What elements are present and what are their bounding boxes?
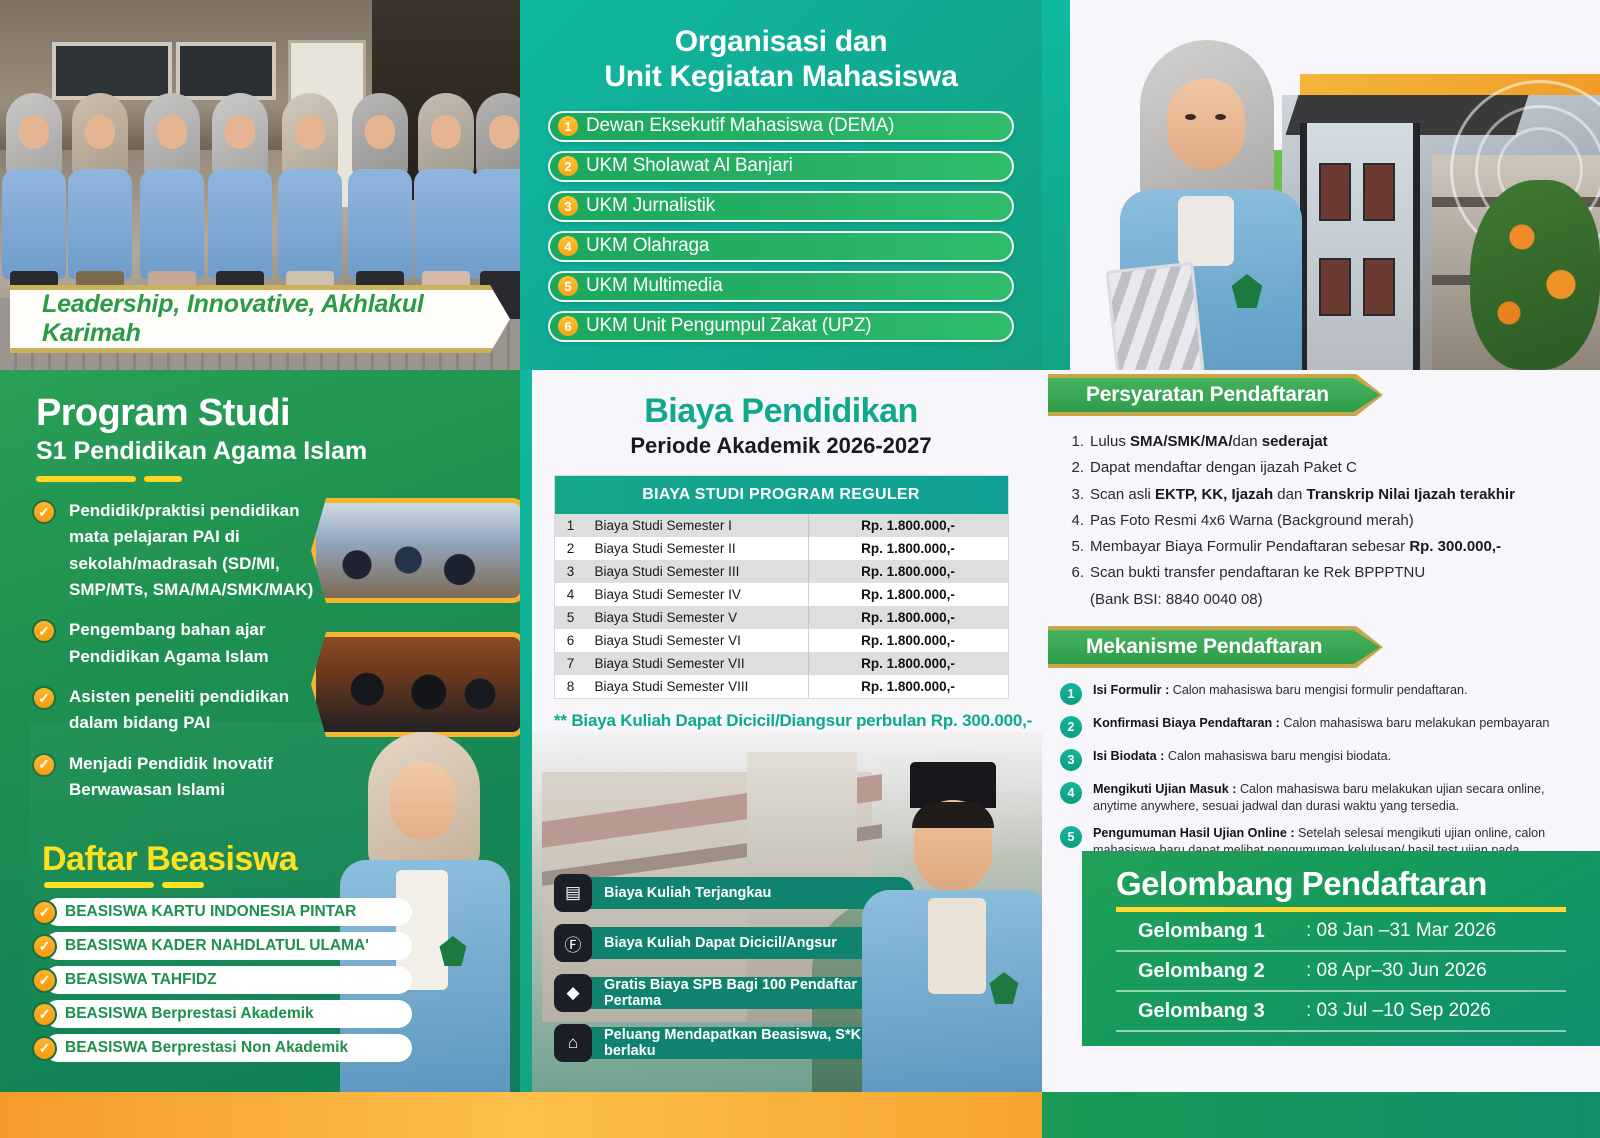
tree-foliage [1470, 180, 1600, 370]
perk-item-1: ▤Biaya Kuliah Terjangkau [554, 874, 914, 912]
persyaratan-number: 3. [1066, 483, 1090, 507]
table-row: 3Biaya Studi Semester IIIRp. 1.800.000,- [555, 560, 1008, 583]
persyaratan-title: Persyaratan Pendaftaran [1048, 383, 1329, 407]
check-icon: ✓ [32, 900, 57, 925]
fee-row-amount: Rp. 1.800.000,- [808, 514, 1008, 537]
building-window [1319, 258, 1351, 316]
ukm-number-badge: 4 [558, 236, 578, 256]
free-tag-icon: ◆ [554, 974, 592, 1012]
mekanisme-step-1: 1Isi Formulir : Calon mahasiswa baru men… [1060, 682, 1600, 705]
gelombang-date: : 03 Jul –10 Sep 2026 [1306, 1000, 1491, 1022]
persyaratan-list: 1.Lulus SMA/SMK/MA/dan sederajat2.Dapat … [1042, 416, 1600, 586]
biaya-panel: Biaya Pendidikan Periode Akademik 2026-2… [520, 370, 1042, 1092]
teal-accent-bar [520, 370, 532, 1092]
classroom-photo [311, 498, 520, 603]
perks-list: ▤Biaya Kuliah TerjangkauⒻBiaya Kuliah Da… [554, 874, 914, 1062]
beasiswa-item-3[interactable]: ✓BEASISWA TAHFIDZ [32, 966, 412, 994]
mekanisme-title: Mekanisme Pendaftaran [1048, 635, 1322, 659]
fee-row-name: Biaya Studi Semester VIII [587, 675, 808, 698]
program-studi-subtitle: S1 Pendidikan Agama Islam [0, 435, 520, 466]
ukm-number-badge: 1 [558, 116, 578, 136]
gelombang-rows: Gelombang 1: 08 Jan –31 Mar 2026Gelomban… [1116, 912, 1566, 1032]
ukm-item-label: UKM Unit Pengumpul Zakat (UPZ) [586, 315, 871, 337]
student-figure [414, 93, 478, 308]
step-text: Isi Formulir : Calon mahasiswa baru meng… [1093, 682, 1563, 705]
ukm-title-line1: Organisasi dan [548, 24, 1014, 59]
student-figure [208, 93, 272, 308]
student-figure [348, 93, 412, 308]
fee-row-amount: Rp. 1.800.000,- [808, 675, 1008, 698]
ukm-title-line2: Unit Kegiatan Mahasiswa [548, 59, 1014, 94]
ukm-item-2[interactable]: 2UKM Sholawat Al Banjari [548, 151, 1014, 182]
table-row: 8Biaya Studi Semester VIIIRp. 1.800.000,… [555, 675, 1008, 698]
mekanisme-list: 1Isi Formulir : Calon mahasiswa baru men… [1042, 668, 1600, 876]
brochure-page: Leadership, Innovative, Akhlakul Karimah… [0, 0, 1600, 1138]
ukm-item-label: UKM Sholawat Al Banjari [586, 155, 793, 177]
ukm-number-badge: 3 [558, 196, 578, 216]
step-number-badge: 1 [1060, 683, 1082, 705]
ukm-title: Organisasi dan Unit Kegiatan Mahasiswa [548, 24, 1014, 95]
mekanisme-step-2: 2Konfirmasi Biaya Pendaftaran : Calon ma… [1060, 715, 1600, 738]
fee-row-number: 4 [555, 583, 587, 606]
gelombang-date: : 08 Apr–30 Jun 2026 [1306, 960, 1487, 982]
beasiswa-title: Daftar Beasiswa [42, 840, 297, 879]
step-number-badge: 4 [1060, 782, 1082, 804]
ukm-item-label: UKM Multimedia [586, 275, 723, 297]
building-window [1363, 258, 1395, 316]
ukm-item-5[interactable]: 5UKM Multimedia [548, 271, 1014, 302]
table-row: 4Biaya Studi Semester IVRp. 1.800.000,- [555, 583, 1008, 606]
ukm-number-badge: 6 [558, 316, 578, 336]
student-figure [140, 93, 204, 308]
fee-row-name: Biaya Studi Semester VI [587, 629, 808, 652]
fee-row-number: 5 [555, 606, 587, 629]
persyaratan-banner: Persyaratan Pendaftaran [1048, 374, 1383, 416]
beasiswa-item-2[interactable]: ✓BEASISWA KADER NAHDLATUL ULAMA' [32, 932, 412, 960]
female-student-figure [1112, 40, 1302, 370]
check-icon: ✓ [32, 968, 57, 993]
fee-row-amount: Rp. 1.800.000,- [808, 606, 1008, 629]
persyaratan-item-4: 4.Pas Foto Resmi 4x6 Warna (Background m… [1066, 509, 1600, 533]
bottom-orange-bar [0, 1092, 1042, 1138]
mekanisme-step-4: 4Mengikuti Ujian Masuk : Calon mahasiswa… [1060, 781, 1600, 815]
persyaratan-text: Lulus SMA/SMK/MA/dan sederajat [1090, 430, 1328, 454]
fee-row-number: 7 [555, 652, 587, 675]
ukm-list: 1Dewan Eksekutif Mahasiswa (DEMA)2UKM Sh… [548, 111, 1014, 342]
persyaratan-text: Scan asli EKTP, KK, Ijazah dan Transkrip… [1090, 483, 1515, 507]
ukm-item-label: UKM Olahraga [586, 235, 709, 257]
persyaratan-number: 1. [1066, 430, 1090, 454]
ukm-item-label: UKM Jurnalistik [586, 195, 715, 217]
biaya-title: Biaya Pendidikan [520, 370, 1042, 431]
gelombang-name: Gelombang 3 [1116, 1000, 1306, 1023]
ukm-item-1[interactable]: 1Dewan Eksekutif Mahasiswa (DEMA) [548, 111, 1014, 142]
persyaratan-number: 4. [1066, 509, 1090, 533]
beasiswa-item-label: BEASISWA KADER NAHDLATUL ULAMA' [65, 937, 369, 955]
campus-hero-photo [1042, 0, 1600, 370]
program-bullet-2: ✓Pengembang bahan ajar Pendidikan Agama … [32, 617, 330, 670]
fee-row-amount: Rp. 1.800.000,- [808, 583, 1008, 606]
student-figure [2, 93, 66, 308]
photo-window [176, 42, 276, 100]
program-studi-panel: Program Studi S1 Pendidikan Agama Islam … [0, 370, 520, 1092]
pendaftaran-panel: Persyaratan Pendaftaran 1.Lulus SMA/SMK/… [1042, 370, 1600, 1092]
persyaratan-text: Scan bukti transfer pendaftaran ke Rek B… [1090, 561, 1425, 585]
persyaratan-number: 2. [1066, 456, 1090, 480]
fee-row-name: Biaya Studi Semester VII [587, 652, 808, 675]
step-text: Isi Biodata : Calon mahasiswa baru mengi… [1093, 748, 1563, 771]
beasiswa-item-4[interactable]: ✓BEASISWA Berprestasi Akademik [32, 1000, 412, 1028]
fee-row-name: Biaya Studi Semester IV [587, 583, 808, 606]
perk-item-3: ◆Gratis Biaya SPB Bagi 100 Pendaftar Per… [554, 974, 914, 1012]
fee-table-header: BIAYA STUDI PROGRAM REGULER [555, 476, 1008, 514]
check-icon: ✓ [32, 619, 56, 643]
check-icon: ✓ [32, 686, 56, 710]
mekanisme-banner: Mekanisme Pendaftaran [1048, 626, 1383, 668]
title-rule [0, 466, 520, 482]
mekanisme-step-3: 3Isi Biodata : Calon mahasiswa baru meng… [1060, 748, 1600, 771]
table-row: 2Biaya Studi Semester IIRp. 1.800.000,- [555, 537, 1008, 560]
perk-label: Biaya Kuliah Terjangkau [604, 885, 771, 901]
fee-row-amount: Rp. 1.800.000,- [808, 652, 1008, 675]
perk-item-2: ⒻBiaya Kuliah Dapat Dicicil/Angsur [554, 924, 914, 962]
beasiswa-item-label: BEASISWA Berprestasi Akademik [65, 1005, 314, 1023]
book-prop [1106, 262, 1207, 370]
tagline-banner: Leadership, Innovative, Akhlakul Karimah [10, 285, 510, 353]
fee-row-amount: Rp. 1.800.000,- [808, 537, 1008, 560]
fee-row-name: Biaya Studi Semester III [587, 560, 808, 583]
persyaratan-text: Pas Foto Resmi 4x6 Warna (Background mer… [1090, 509, 1414, 533]
persyaratan-item-2: 2.Dapat mendaftar dengan ijazah Paket C [1066, 456, 1600, 480]
persyaratan-number: 6. [1066, 561, 1090, 585]
fee-row-number: 2 [555, 537, 587, 560]
gelombang-row-3: Gelombang 3: 03 Jul –10 Sep 2026 [1116, 992, 1566, 1032]
ukm-number-badge: 5 [558, 276, 578, 296]
beasiswa-rule [44, 882, 204, 888]
building-window [1319, 163, 1351, 221]
beasiswa-list: ✓BEASISWA KARTU INDONESIA PINTAR✓BEASISW… [32, 898, 412, 1062]
teal-accent-bar [1042, 0, 1070, 370]
beasiswa-item-label: BEASISWA TAHFIDZ [65, 971, 217, 989]
persyaratan-text: Membayar Biaya Formulir Pendaftaran sebe… [1090, 535, 1501, 559]
fee-row-amount: Rp. 1.800.000,- [808, 629, 1008, 652]
ukm-item-6[interactable]: 6UKM Unit Pengumpul Zakat (UPZ) [548, 311, 1014, 342]
fee-row-number: 8 [555, 675, 587, 698]
table-row: 5Biaya Studi Semester VRp. 1.800.000,- [555, 606, 1008, 629]
perk-label: Biaya Kuliah Dapat Dicicil/Angsur [604, 935, 837, 951]
program-studi-title: Program Studi [0, 370, 520, 435]
fee-table-body: 1Biaya Studi Semester IRp. 1.800.000,-2B… [555, 514, 1008, 698]
persyaratan-bank-note: (Bank BSI: 8840 0040 08) [1042, 588, 1600, 612]
fee-note: ** Biaya Kuliah Dapat Dicicil/Diangsur p… [554, 711, 1042, 731]
perk-label: Peluang Mendapatkan Beasiswa, S*K berlak… [604, 1027, 914, 1059]
photo-window [52, 42, 172, 100]
beasiswa-item-1[interactable]: ✓BEASISWA KARTU INDONESIA PINTAR [32, 898, 412, 926]
beasiswa-item-label: BEASISWA KARTU INDONESIA PINTAR [65, 903, 356, 921]
persyaratan-item-5: 5.Membayar Biaya Formulir Pendaftaran se… [1066, 535, 1600, 559]
persyaratan-item-3: 3.Scan asli EKTP, KK, Ijazah dan Transkr… [1066, 483, 1600, 507]
ukm-number-badge: 2 [558, 156, 578, 176]
step-text: Mengikuti Ujian Masuk : Calon mahasiswa … [1093, 781, 1563, 815]
gelombang-card: Gelombang Pendaftaran Gelombang 1: 08 Ja… [1082, 851, 1600, 1046]
gelombang-row-1: Gelombang 1: 08 Jan –31 Mar 2026 [1116, 912, 1566, 952]
ukm-item-4[interactable]: 4UKM Olahraga [548, 231, 1014, 262]
step-number-badge: 2 [1060, 716, 1082, 738]
gelombang-name: Gelombang 2 [1116, 960, 1306, 983]
ukm-item-3[interactable]: 3UKM Jurnalistik [548, 191, 1014, 222]
ukm-item-label: Dewan Eksekutif Mahasiswa (DEMA) [586, 115, 894, 137]
fee-row-amount: Rp. 1.800.000,- [808, 560, 1008, 583]
step-number-badge: 3 [1060, 749, 1082, 771]
check-icon: ✓ [32, 934, 57, 959]
persyaratan-item-1: 1.Lulus SMA/SMK/MA/dan sederajat [1066, 430, 1600, 454]
beasiswa-item-label: BEASISWA Berprestasi Non Akademik [65, 1039, 348, 1057]
student-figure [68, 93, 132, 308]
bottom-green-bar [1042, 1092, 1600, 1138]
persyaratan-text: Dapat mendaftar dengan ijazah Paket C [1090, 456, 1357, 480]
program-bullet-1: ✓Pendidik/praktisi pendidikan mata pelaj… [32, 498, 330, 603]
gelombang-row-2: Gelombang 2: 08 Apr–30 Jun 2026 [1116, 952, 1566, 992]
fee-row-name: Biaya Studi Semester II [587, 537, 808, 560]
gelombang-name: Gelombang 1 [1116, 920, 1306, 943]
persyaratan-number: 5. [1066, 535, 1090, 559]
table-row: 6Biaya Studi Semester VIRp. 1.800.000,- [555, 629, 1008, 652]
gelombang-date: : 08 Jan –31 Mar 2026 [1306, 920, 1496, 942]
money-icon: ▤ [554, 874, 592, 912]
fee-row-name: Biaya Studi Semester V [587, 606, 808, 629]
check-icon: ✓ [32, 1036, 57, 1061]
student-figure [278, 93, 342, 308]
perk-label: Gratis Biaya SPB Bagi 100 Pendaftar Pert… [604, 977, 914, 1009]
gelombang-title: Gelombang Pendaftaran [1116, 865, 1566, 903]
ukm-panel: Organisasi dan Unit Kegiatan Mahasiswa 1… [520, 0, 1042, 370]
graduation-icon: ⌂ [554, 1024, 592, 1062]
invoice-icon: Ⓕ [554, 924, 592, 962]
fee-row-number: 1 [555, 514, 587, 537]
fee-table: BIAYA STUDI PROGRAM REGULER 1Biaya Studi… [554, 475, 1009, 699]
step-text: Konfirmasi Biaya Pendaftaran : Calon mah… [1093, 715, 1563, 738]
graduation-photo [311, 632, 520, 737]
fee-row-number: 6 [555, 629, 587, 652]
program-bullet-label: Pendidik/praktisi pendidikan mata pelaja… [69, 498, 330, 603]
program-bullet-label: Pengembang bahan ajar Pendidikan Agama I… [69, 617, 330, 670]
perk-item-4: ⌂Peluang Mendapatkan Beasiswa, S*K berla… [554, 1024, 914, 1062]
persyaratan-item-6: 6.Scan bukti transfer pendaftaran ke Rek… [1066, 561, 1600, 585]
fee-row-number: 3 [555, 560, 587, 583]
beasiswa-item-5[interactable]: ✓BEASISWA Berprestasi Non Akademik [32, 1034, 412, 1062]
table-row: 7Biaya Studi Semester VIIRp. 1.800.000,- [555, 652, 1008, 675]
table-row: 1Biaya Studi Semester IRp. 1.800.000,- [555, 514, 1008, 537]
tagline-text: Leadership, Innovative, Akhlakul Karimah [10, 290, 510, 348]
building-window [1363, 163, 1395, 221]
campus-background-photo: ▤Biaya Kuliah TerjangkauⒻBiaya Kuliah Da… [532, 732, 1042, 1092]
student-figure [472, 93, 520, 308]
building-tower [1300, 123, 1420, 370]
check-icon: ✓ [32, 1002, 57, 1027]
fee-row-name: Biaya Studi Semester I [587, 514, 808, 537]
check-icon: ✓ [32, 500, 56, 524]
step-number-badge: 5 [1060, 826, 1082, 848]
biaya-subtitle: Periode Akademik 2026-2027 [520, 431, 1042, 459]
